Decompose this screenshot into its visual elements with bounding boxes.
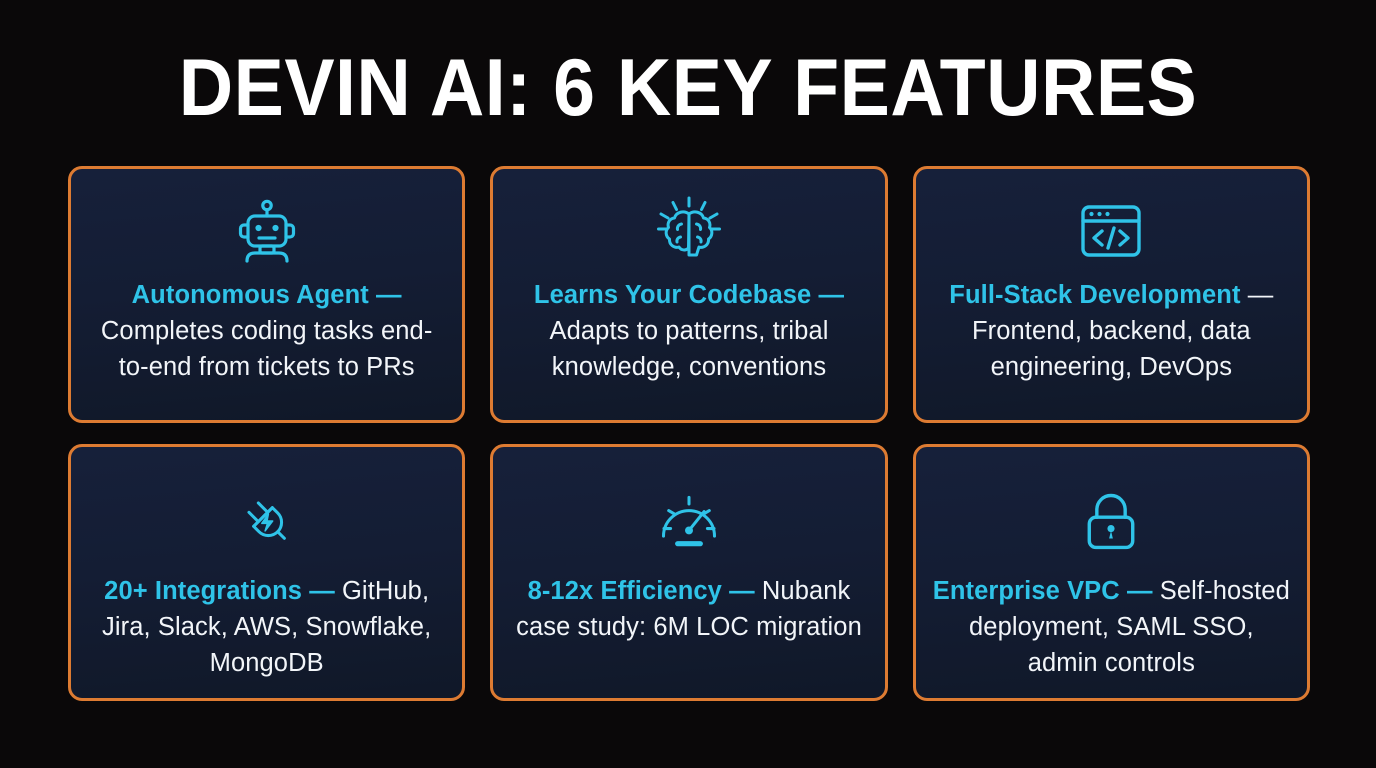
- feature-card-text: 20+ Integrations — GitHub, Jira, Slack, …: [85, 573, 448, 681]
- feature-card-heading: 8-12x Efficiency —: [528, 577, 755, 605]
- feature-card-autonomous-agent[interactable]: Autonomous Agent — Completes coding task…: [68, 166, 465, 423]
- brain-idea-icon: [653, 195, 725, 267]
- feature-card-heading: 20+ Integrations —: [104, 577, 335, 605]
- feature-card-body: Completes coding tasks end-to-end from t…: [101, 317, 433, 381]
- feature-card-learns-codebase[interactable]: Learns Your Codebase — Adapts to pattern…: [490, 166, 887, 423]
- page-title: DEVIN AI: 6 KEY FEATURES: [48, 42, 1328, 134]
- feature-card-heading: Autonomous Agent —: [132, 281, 402, 309]
- feature-card-body: Adapts to patterns, tribal knowledge, co…: [549, 317, 828, 381]
- power-plug-bolt-icon: [233, 485, 301, 557]
- code-window-icon: [1075, 195, 1147, 267]
- slide-canvas: DEVIN AI: 6 KEY FEATURES Aut: [0, 0, 1376, 768]
- feature-card-text: 8-12x Efficiency — Nubank case study: 6M…: [507, 573, 870, 645]
- feature-card-text: Learns Your Codebase — Adapts to pattern…: [507, 277, 870, 385]
- feature-card-heading: Learns Your Codebase —: [534, 281, 844, 309]
- feature-card-heading: Enterprise VPC —: [933, 577, 1153, 605]
- padlock-icon: [1077, 485, 1145, 557]
- robot-icon: [231, 195, 303, 267]
- feature-card-text: Enterprise VPC — Self-hosted deployment,…: [930, 573, 1293, 681]
- feature-card-heading: Full-Stack Development: [949, 281, 1240, 309]
- feature-card-text: Full-Stack Development — Frontend, backe…: [930, 277, 1293, 385]
- feature-card-grid: Autonomous Agent — Completes coding task…: [68, 166, 1310, 701]
- feature-card-text: Autonomous Agent — Completes coding task…: [85, 277, 448, 385]
- feature-card-efficiency[interactable]: 8-12x Efficiency — Nubank case study: 6M…: [490, 444, 887, 701]
- feature-card-enterprise-vpc[interactable]: Enterprise VPC — Self-hosted deployment,…: [913, 444, 1310, 701]
- speedometer-icon: [655, 485, 723, 557]
- feature-card-integrations[interactable]: 20+ Integrations — GitHub, Jira, Slack, …: [68, 444, 465, 701]
- feature-card-full-stack-development[interactable]: Full-Stack Development — Frontend, backe…: [913, 166, 1310, 423]
